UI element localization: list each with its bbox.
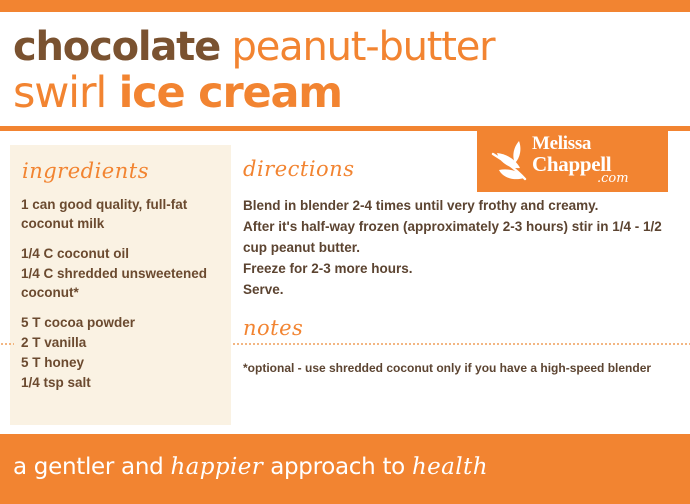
recipe-card: chocolate peanut-butter swirl ice cream … xyxy=(0,0,690,504)
title-word-swirl: swirl xyxy=(13,68,106,118)
title-area: chocolate peanut-butter swirl ice cream xyxy=(0,12,690,126)
list-item: 5 T honey xyxy=(21,353,226,372)
brand-logo-block[interactable]: Melissa Chappell .com xyxy=(477,130,668,192)
tagline-script-health: health xyxy=(412,454,488,480)
brand-name: Melissa Chappell xyxy=(532,134,611,174)
ingredients-panel: ingredients 1 can good quality, full-fat… xyxy=(10,145,231,425)
title-word-chocolate: chocolate xyxy=(13,24,220,70)
list-item: Serve. xyxy=(243,279,675,300)
leaf-branch-icon xyxy=(489,138,535,184)
footer-tagline: a gentler and happier approach to health xyxy=(13,452,488,482)
top-accent-bar xyxy=(0,0,690,12)
directions-list: Blend in blender 2-4 times until very fr… xyxy=(243,195,675,300)
dotted-rule-left xyxy=(0,343,14,345)
notes-text: *optional - use shredded coconut only if… xyxy=(243,360,673,377)
ingredients-list: 1 can good quality, full-fat coconut mil… xyxy=(21,195,226,393)
tagline-part-2: approach to xyxy=(263,454,412,480)
title-word-peanut-butter: peanut-butter xyxy=(232,24,495,70)
list-item: Freeze for 2-3 more hours. xyxy=(243,258,675,279)
list-item: 1/4 C shredded unsweetened coconut* xyxy=(21,264,226,302)
brand-domain: .com xyxy=(597,172,629,186)
brand-logo-inner: Melissa Chappell .com xyxy=(477,130,668,192)
brand-name-first: Melissa xyxy=(532,133,591,154)
tagline-script-happier: happier xyxy=(170,454,263,480)
directions-heading: directions xyxy=(243,157,355,181)
list-item: 1/4 tsp salt xyxy=(21,373,226,392)
list-item: After it's half-way frozen (approximatel… xyxy=(243,216,675,258)
ingredient-group: 1/4 C coconut oil 1/4 C shredded unsweet… xyxy=(21,244,226,302)
tagline-part-1: a gentler and xyxy=(13,454,170,480)
ingredients-heading: ingredients xyxy=(22,159,149,183)
list-item: 1 can good quality, full-fat coconut mil… xyxy=(21,195,226,233)
recipe-title-line-1: chocolate peanut-butter xyxy=(13,25,494,69)
list-item: 2 T vanilla xyxy=(21,333,226,352)
recipe-title-line-2: swirl ice cream xyxy=(13,70,342,116)
ingredient-group: 5 T cocoa powder 2 T vanilla 5 T honey 1… xyxy=(21,313,226,392)
list-item: Blend in blender 2-4 times until very fr… xyxy=(243,195,675,216)
list-item: 5 T cocoa powder xyxy=(21,313,226,332)
list-item: 1/4 C coconut oil xyxy=(21,244,226,263)
footer-bar: a gentler and happier approach to health xyxy=(0,434,690,504)
notes-heading: notes xyxy=(243,316,303,340)
title-word-ice-cream: ice cream xyxy=(119,68,342,118)
dotted-rule-notes xyxy=(232,343,690,345)
ingredient-group: 1 can good quality, full-fat coconut mil… xyxy=(21,195,226,233)
